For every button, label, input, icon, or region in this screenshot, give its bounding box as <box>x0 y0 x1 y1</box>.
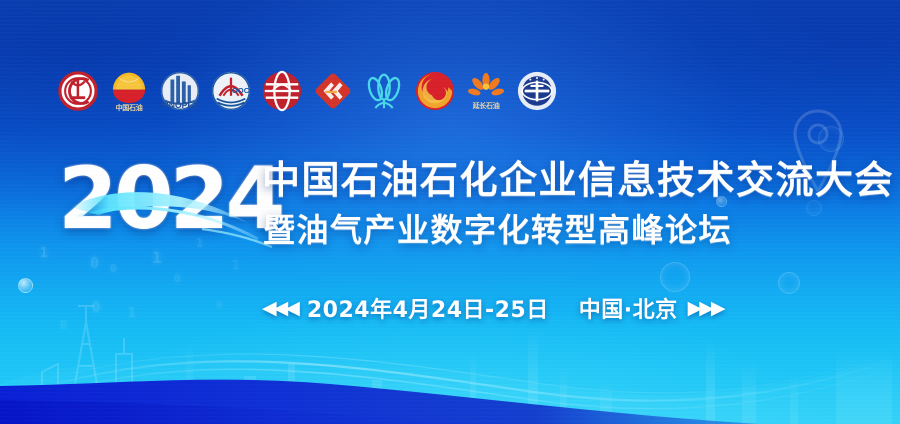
conference-banner: 1 0 0 1 0 1 0 1 0 0 1 <box>0 0 900 424</box>
background-scanlines <box>0 0 900 424</box>
